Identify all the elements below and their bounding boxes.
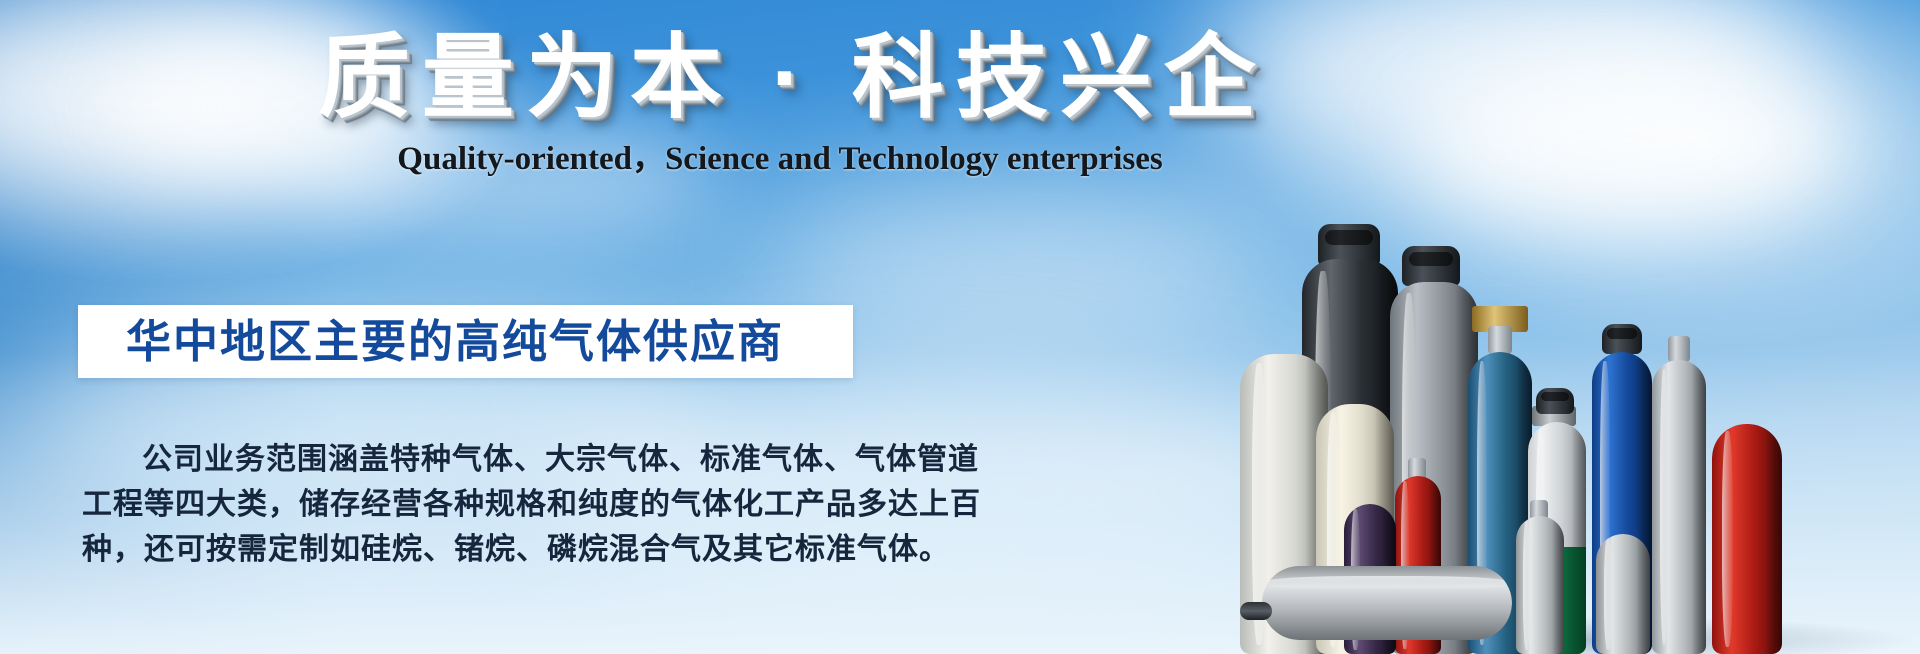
- page-title: 质量为本 · 科技兴企: [318, 18, 1268, 138]
- paragraph-line: 公司业务范围涵盖特种气体、大宗气体、标准气体、气体管道: [82, 437, 882, 482]
- description-paragraph: 公司业务范围涵盖特种气体、大宗气体、标准气体、气体管道 工程等四大类，储存经营各…: [82, 437, 882, 572]
- cylinder-aluminium-tall: [1652, 360, 1706, 654]
- page-subtitle: Quality-oriented，Science and Technology …: [330, 138, 1230, 180]
- cylinder-red-tall: [1712, 424, 1782, 654]
- cylinder-aluminium-medium: [1516, 516, 1564, 654]
- cylinder-aluminium-short: [1596, 534, 1650, 654]
- gas-cylinder-group: [1240, 174, 1920, 654]
- cylinder-cap: [1602, 324, 1642, 354]
- cylinder-neck: [1668, 336, 1690, 362]
- cloud-shape: [1200, 0, 1820, 190]
- promo-banner: 质量为本 · 科技兴企 Quality-oriented，Science and…: [0, 0, 1920, 654]
- cylinder-horizontal-tank: [1262, 566, 1512, 640]
- paragraph-line: 工程等四大类，储存经营各种规格和纯度的气体化工产品多达上百: [82, 482, 882, 527]
- paragraph-line: 种，还可按需定制如硅烷、锗烷、磷烷混合气及其它标准气体。: [82, 527, 882, 572]
- tagline-text: 华中地区主要的高纯气体供应商: [78, 316, 784, 368]
- tank-valve: [1240, 602, 1272, 620]
- tagline-box: 华中地区主要的高纯气体供应商: [78, 305, 853, 378]
- cylinder-neck: [1488, 326, 1512, 354]
- cylinder-cap: [1536, 388, 1574, 414]
- cylinder-cap: [1402, 246, 1460, 286]
